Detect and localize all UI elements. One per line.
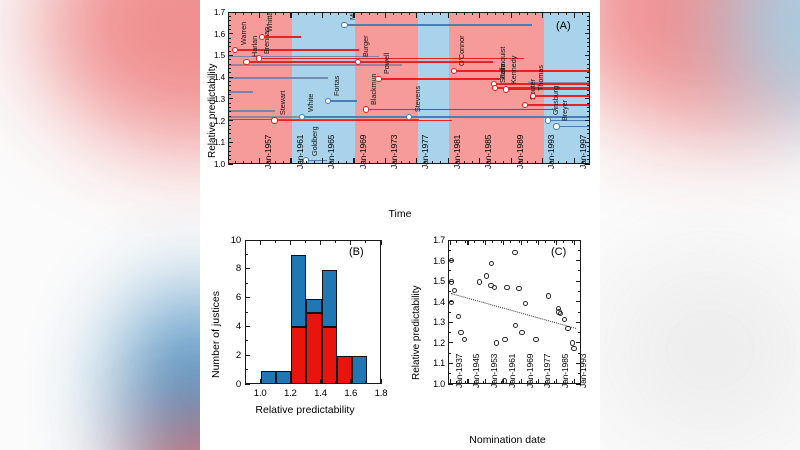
justice-marker-thomas [530,93,536,99]
panel-a-xlabel-7: Jan-1985 [483,135,493,169]
panel-a-xminor [267,161,268,164]
panel-c-xminor-t [474,240,475,243]
scatter-point [502,337,507,342]
tenure-line-kennedy [506,89,590,91]
panel-c-ytick-4 [448,301,453,302]
panel-c-ytick-r-2 [576,342,581,343]
panel-a-yminor-r [587,16,590,17]
panel-a-ytick-7 [228,12,233,13]
panel-b-ytick-0 [245,384,250,385]
panel-a-xtick-t-3 [353,12,354,18]
histogram-bar-blue-2 [291,255,306,327]
panel-b-ytick-5 [245,240,250,241]
panel-c-xminor [465,381,466,384]
panel-a-xminor-t [235,12,236,15]
panel-c-ylabel-3: 1.3 [424,317,445,327]
justice-marker-marshall [341,22,347,28]
panel-a-ytick-1 [228,142,233,143]
justice-marker-powell [375,76,381,82]
panel-c-xminor-t [563,240,564,243]
panel-c-xlabel-4: Jan-1969 [525,354,535,388]
justice-label-burger: Burger [361,35,370,57]
panel-c-xminor-t [527,240,528,243]
panel-b-ylabel: Number of justices [210,291,222,378]
panel-a-xminor [582,161,583,164]
panel-a-yminor [228,38,231,39]
panel-a-xtick-8 [511,158,512,164]
panel-c-xtick-t-3 [503,240,504,245]
panel-a-xlabel-0: Jan-1957 [263,135,273,169]
panel-c-ytick-r-3 [576,322,581,323]
panel-a-yminor-r [587,42,590,43]
scatter-point [562,317,567,322]
panel-a-xtick-t-9 [542,12,543,18]
panel-b-ylabel-0: 0 [222,379,241,390]
panel-c-ylabel-1: 1.1 [424,358,445,368]
panel-a-ytick-4 [228,77,233,78]
background-span-5 [229,110,275,112]
panel-c-ylabel-2: 1.2 [424,338,445,348]
scatter-point [512,250,517,255]
panel-b-xminor [305,381,306,384]
justice-label-white: White [306,94,315,112]
justice-label-oconnor: O'Connor [457,35,466,66]
panel-c-ytick-r-5 [576,281,581,282]
panel-a-xtick-4 [385,158,386,164]
panel-c-ytick-6 [448,260,453,261]
panel-a-yminor-r [587,25,590,26]
panel-a-xminor-t [306,12,307,15]
panel-a-xminor-t [558,12,559,15]
panel-c-xlabel-1: Jan-1945 [471,354,481,388]
panel-c-xminor-t [501,240,502,243]
panel-b-ytick-1 [245,355,250,356]
panel-a-xtick-7 [479,158,480,164]
panel-a-xminor [314,161,315,164]
panel-a-xminor [251,161,252,164]
panel-a-yminor [228,72,231,73]
panel-b-xtick-t-4 [381,240,382,245]
panel-c-xlabel-5: Jan-1977 [542,354,552,388]
panel-b-xtick-t-2 [320,240,321,245]
panel-a-xminor-t [440,12,441,15]
panel-b-xtick-2 [320,379,321,384]
histogram-bar-red-2 [291,327,306,384]
scatter-point [462,337,467,342]
panel-b-xminor-t [335,240,336,243]
panel-a-xminor [535,161,536,164]
panel-a-ylabel-7: 1.7 [203,7,225,17]
panel-a-yminor-r [587,90,590,91]
panel-a-yminor [228,29,231,30]
panel-a-yminor [228,51,231,52]
panel-b-xminor [335,381,336,384]
panel-a-yminor-r [587,85,590,86]
panel-a-yminor [228,25,231,26]
panel-a-xlabel: Time [200,208,600,220]
panel-a-xtick-t-5 [416,12,417,18]
panel-a-yminor [228,68,231,69]
panel-a-yminor-r [587,38,590,39]
justice-label-stevens: Stevens [413,86,422,112]
tenure-line-brennan [259,58,524,60]
scatter-point [570,340,575,345]
panel-a-ytick-3 [228,98,233,99]
panel-c-xlabel-2: Jan-1953 [489,354,499,388]
panel-c-xtick-5 [538,379,539,384]
panel-a-yminor-r [587,81,590,82]
panel-a-yminor [228,107,231,108]
justice-marker-kennedy [503,86,509,92]
panel-c-xtick-2 [485,379,486,384]
panel-c-xtick-7 [574,379,575,384]
panel-c-yminor-r [578,312,581,313]
panel-c-yminor-r [578,291,581,292]
panel-a-xminor [495,161,496,164]
panel-c-xminor [545,381,546,384]
justice-label-fortas: Fortas [332,76,341,96]
panel-b-ylabel-1: 2 [222,350,241,361]
scatter-point [558,311,563,316]
panel-a-xtick-5 [416,158,417,164]
background-span-4 [229,91,253,93]
scatter-point [516,286,521,291]
panel-c-xminor-t [554,240,555,243]
panel-a-xminor-t [535,12,536,15]
panel-a-yminor-r [587,129,590,130]
panel-a-xtick-t-8 [511,12,512,18]
panel-a-ytick-2 [228,120,233,121]
panel-a-xminor [401,161,402,164]
panel-c-xminor [536,381,537,384]
panel-c-xlabel-0: Jan-1937 [454,354,464,388]
justice-marker-harlan [243,59,249,65]
panel-c: (C) Relative predictability Nomination d… [400,228,600,450]
panel-c-xminor-t [492,240,493,243]
panel-b-ytick-4 [245,268,250,269]
panel-a-yminor [228,46,231,47]
tenure-line-burger [358,61,493,63]
histogram-bar-blue-6 [352,356,367,384]
panel-b-xtick-1 [290,379,291,384]
panel-a-ytick-r-3 [585,98,590,99]
background-span-3 [229,77,328,79]
panel-c-xminor-t [545,240,546,243]
panel-a-xlabel-6: Jan-1981 [452,135,462,169]
panel-a-yminor [228,116,231,117]
tenure-line-oconnor [454,70,590,72]
panel-a-xminor [235,161,236,164]
panel-c-xminor [563,381,564,384]
panel-a-xlabel-2: Jan-1965 [326,135,336,169]
panel-a-yminor-r [587,116,590,117]
panel-a-yminor-r [587,107,590,108]
panel-a-xminor [558,161,559,164]
panel-a-xminor-t [275,12,276,15]
panel-c-xminor [572,381,573,384]
panel-a-ytick-r-5 [585,55,590,56]
panel-b-xtick-3 [350,379,351,384]
panel-c-xminor [492,381,493,384]
panel-a-ytick-r-6 [585,33,590,34]
justice-label-kennedy: Kennedy [509,56,518,84]
panel-a-xtick-t-6 [448,12,449,18]
panel-a-xminor-t [409,12,410,15]
panel-a-xtick-t-1 [290,12,291,18]
histogram-bar-blue-3 [306,299,321,313]
panel-a-yminor-r [587,51,590,52]
panel-c-xtick-t-2 [485,240,486,245]
panel-a-xminor [464,161,465,164]
panel-a-xminor [306,161,307,164]
panel-a-xminor [487,161,488,164]
panel-a-xlabel-3: Jan-1969 [358,135,368,169]
scatter-point [571,346,576,351]
scatter-point [513,323,518,328]
panel-c-xtick-0 [450,379,451,384]
panel-b-xlabel-4: 1.8 [369,388,393,399]
panel-c-xminor-t [536,240,537,243]
panel-a-xlabel-9: Jan-1993 [546,135,556,169]
panel-a-xminor [550,161,551,164]
panel-a-xminor [338,161,339,164]
panel-a-xminor-t [283,12,284,15]
panel-a-letter: (A) [556,20,571,32]
panel-c-xminor [456,381,457,384]
panel-a-xtick-t-0 [259,12,260,18]
tenure-line-blackmun [366,109,556,111]
panel-b-letter: (B) [349,246,364,258]
scatter-point [523,301,528,306]
scatter-point [519,330,524,335]
panel-a-xminor-t [298,12,299,15]
panel-c-xtick-6 [556,379,557,384]
panel-a-xminor-t [487,12,488,15]
justice-label-goldberg: Goldberg [310,126,319,156]
panel-c-xtick-t-7 [574,240,575,245]
panel-b-ylabel-4: 8 [222,263,241,274]
panel-c-xminor-t [572,240,573,243]
panel-c-xlabel-3: Jan-1961 [507,354,517,388]
panel-a-ytick-6 [228,33,233,34]
panel-c-xminor [527,381,528,384]
tenure-line-goldberg [306,160,327,162]
panel-a-xminor-t [361,12,362,15]
panel-a-yminor [228,103,231,104]
panel-c-ylabel: Relative predictability [411,286,422,381]
panel-a-xtick-3 [353,158,354,164]
panel-c-ytick-2 [448,342,453,343]
panel-c-yminor [448,312,451,313]
justice-label-warren: Warren [239,22,248,45]
panel-c-yminor-r [578,270,581,271]
panel-b-xlabel-2: 1.4 [309,388,333,399]
panel-c-yminor [448,291,451,292]
justice-marker-brennan [256,55,262,61]
justice-label-powell: Powell [382,53,391,74]
panel-c-xtick-t-4 [521,240,522,245]
panel-a-xminor-t [393,12,394,15]
panel-c-xminor [510,381,511,384]
panel-a-xminor [519,161,520,164]
scatter-point [477,279,482,284]
panel-a-yminor-r [587,94,590,95]
panel-a-xtick-t-7 [479,12,480,18]
panel-a-xminor-t [550,12,551,15]
panel-a-xminor-t [346,12,347,15]
panel-c-ylabel-5: 1.5 [424,276,445,286]
panel-b-ylabel-3: 6 [222,292,241,303]
panel-a-ytick-0 [228,164,233,165]
panel-a-yminor [228,146,231,147]
justice-marker-stewart [271,117,277,123]
panel-c-yminor [448,332,451,333]
panel-b-ytick-2 [245,326,250,327]
panel-a-ylabel-3: 1.3 [203,94,225,104]
panel-a-xtick-t-10 [574,12,575,18]
panel-a-yminor [228,42,231,43]
panel-c-ytick-r-7 [576,240,581,241]
panel-c-xlabel-6: Jan-1985 [560,354,570,388]
panel-a-ytick-5 [228,55,233,56]
panel-a-yminor-r [587,46,590,47]
scatter-point [504,285,509,290]
panel-a-ylabel-1: 1.1 [203,137,225,147]
panel-c-ytick-3 [448,322,453,323]
panel-b-xminor [275,381,276,384]
panel-a-ylabel-2: 1.2 [203,116,225,126]
panel-c-xtick-t-1 [467,240,468,245]
panel-a-xminor-t [464,12,465,15]
panel-a-ylabel-5: 1.5 [203,50,225,60]
panel-a-yminor [228,151,231,152]
panel-a-xtick-2 [322,158,323,164]
justice-label-stewart: Stewart [278,91,287,115]
scatter-point [546,293,551,298]
histogram-bar-red-4 [322,327,337,384]
panel-b-xtick-t-0 [260,240,261,245]
panel-a-xminor [283,161,284,164]
panel-a-xminor-t [369,12,370,15]
panel-a-xtick-0 [259,158,260,164]
tenure-line-powell [379,78,501,80]
panel-a-ytick-r-7 [585,12,590,13]
panel-a-xlabel-4: Jan-1973 [389,135,399,169]
scatter-point [494,340,499,345]
panel-c-xminor-t [456,240,457,243]
panel-a-yminor-r [587,64,590,65]
justice-marker-ginsburg [545,117,551,123]
panel-a-xtick-t-4 [385,12,386,18]
panel-b-xtick-t-1 [290,240,291,245]
panel-c-xminor [554,381,555,384]
panel-a-xlabel-8: Jan-1989 [515,135,525,169]
panel-c-ylabel-0: 1.0 [424,379,445,389]
histogram-bar-red-3 [306,313,321,384]
panel-a-xminor-t [424,12,425,15]
panel-a-yminor-r [587,72,590,73]
panel-a-xlabel-10: Jan-1997 [578,135,588,169]
panel-a-yminor [228,159,231,160]
tenure-line-thomas [533,95,590,97]
panel-c-xminor-t [465,240,466,243]
panel-a-xminor [393,161,394,164]
panel-b-xlabel-3: 1.6 [339,388,363,399]
panel-c-xminor-t [483,240,484,243]
panel-a-yminor-r [587,111,590,112]
panel-c-xminor [519,381,520,384]
panel-c-xtick-3 [503,379,504,384]
panel-a-yminor-r [587,20,590,21]
justice-label-harlan: Harlan [250,36,259,57]
panel-c-xminor-t [519,240,520,243]
panel-c-xminor [501,381,502,384]
panel-a-xminor [440,161,441,164]
scatter-point [489,261,494,266]
panel-a-xminor [346,161,347,164]
panel-a-ytick-r-2 [585,120,590,121]
panel-a-xminor-t [338,12,339,15]
panel-c-ytick-r-6 [576,260,581,261]
panel-a-yminor-r [587,125,590,126]
panel-a-xtick-6 [448,158,449,164]
tenure-line-marshall [345,24,532,26]
panel-a-xlabel-5: Jan-1977 [420,135,430,169]
panel-a-yminor [228,94,231,95]
panel-b-xminor-t [365,240,366,243]
panel-a-yminor [228,16,231,17]
panel-c-ylabel-7: 1.7 [424,235,445,245]
panel-a-yminor [228,81,231,82]
panel-a-xminor-t [456,12,457,15]
panel-c-yminor [448,250,451,251]
panel-a-yminor-r [587,59,590,60]
justice-label-ginsburg: Ginsburg [551,86,560,115]
panel-c-xtick-t-5 [538,240,539,245]
panel-b-yminor [245,369,248,370]
figure-canvas: WarrenHarlanBrennanWhittakerStewartWhite… [200,0,600,450]
panel-a-ylabel-0: 1.0 [203,159,225,169]
scatter-point [533,337,538,342]
panel-c-yminor-r [578,332,581,333]
panel-a-yminor [228,133,231,134]
panel-a-xminor-t [566,12,567,15]
tenure-line-fortas [328,100,357,102]
panel-a-xminor-t [243,12,244,15]
panel-c-letter: (C) [551,246,566,258]
panel-a-ylabel-4: 1.4 [203,72,225,82]
panel-c-xminor [483,381,484,384]
panel-c-yminor [448,353,451,354]
justice-label-scalia: Scalia [498,63,507,83]
panel-a-xminor [456,161,457,164]
panel-b-xlabel-0: 1.0 [248,388,272,399]
panel-b-yminor [245,340,248,341]
panel-a-xminor [275,161,276,164]
panel-a-xminor [330,161,331,164]
panel-a-xminor-t [472,12,473,15]
panel-a-xminor-t [503,12,504,15]
panel-b-xlabel: Relative predictability [220,404,390,416]
panel-c-ylabel-6: 1.6 [424,256,445,266]
panel-a-xtick-9 [542,158,543,164]
tenure-line-breyer [556,126,590,128]
panel-b-xminor [365,381,366,384]
panel-c-yminor [448,270,451,271]
panel-b-plot-area [245,240,381,384]
panel-a-yminor-r [587,68,590,69]
panel-c-xminor-t [510,240,511,243]
